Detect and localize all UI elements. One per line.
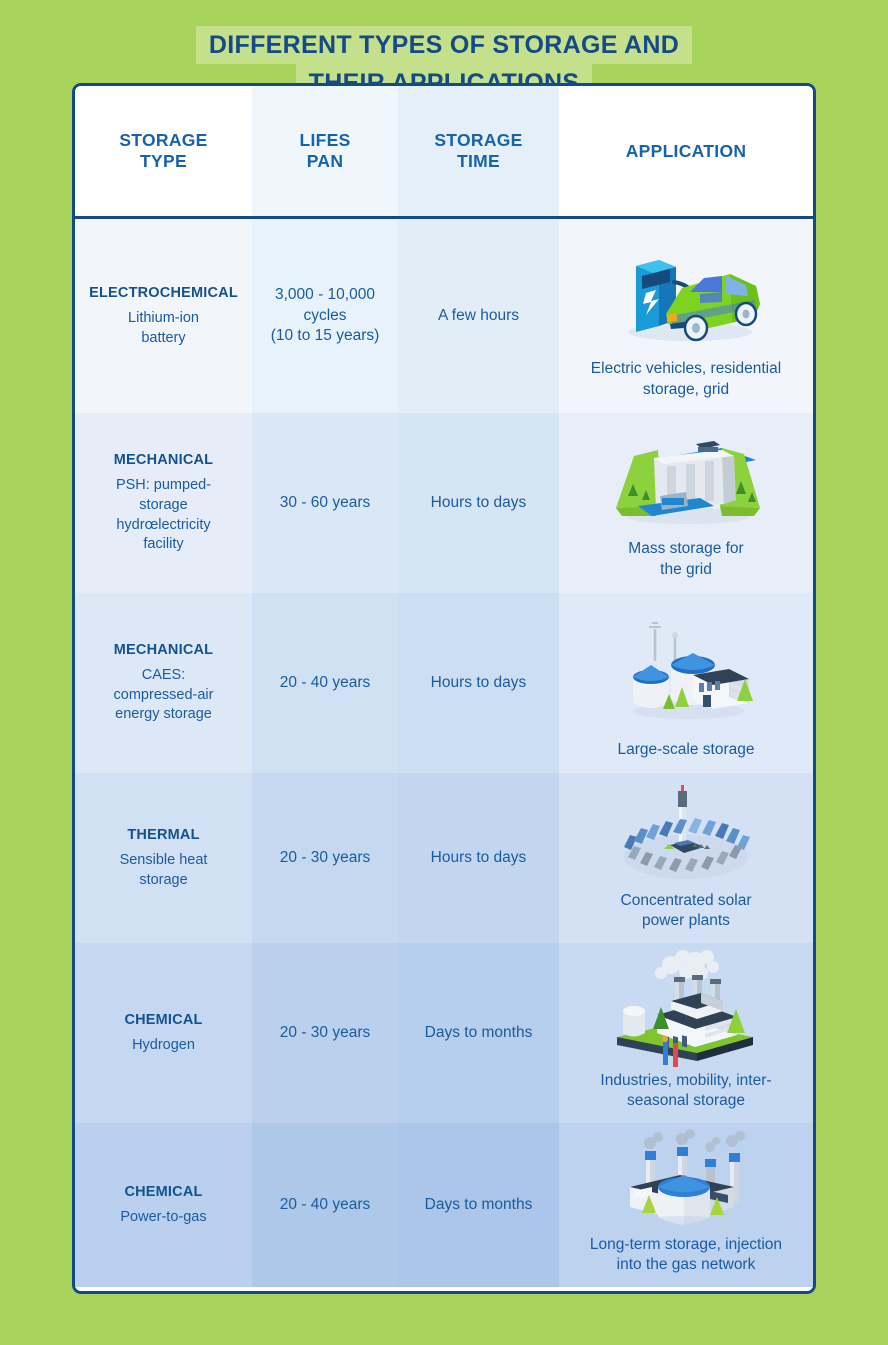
column-header-storage-time: STORAGE TIME xyxy=(398,86,559,216)
table-row: THERMAL Sensible heatstorage 20 - 30 yea… xyxy=(75,773,813,943)
cell-storage-type: MECHANICAL PSH: pumped-storagehydrœlectr… xyxy=(75,413,252,593)
cell-application: Concentrated solarpower plants xyxy=(559,773,813,943)
column-header-line-1: LIFES xyxy=(299,130,350,151)
gas-plant-icon xyxy=(567,1129,805,1235)
table-row: CHEMICAL Hydrogen 20 - 30 years Days to … xyxy=(75,943,813,1123)
storage-tanks-icon xyxy=(567,599,805,740)
cell-storage-type: CHEMICAL Hydrogen xyxy=(75,943,252,1123)
cell-application: Mass storage forthe grid xyxy=(559,413,813,593)
ev-charging-icon xyxy=(567,225,805,359)
lifespan-value: 20 - 30 years xyxy=(280,848,370,869)
cell-lifespan: 20 - 40 years xyxy=(252,593,398,773)
storage-type-desc: Lithium-ionbattery xyxy=(128,309,199,348)
cell-storage-time: Hours to days xyxy=(398,593,559,773)
page-title-line-1: DIFFERENT TYPES OF STORAGE AND xyxy=(196,26,692,64)
storage-type-desc: Sensible heatstorage xyxy=(120,851,208,890)
cell-storage-type: CHEMICAL Power-to-gas xyxy=(75,1123,252,1287)
storage-type-name: MECHANICAL xyxy=(114,641,213,659)
table-row: ELECTROCHEMICAL Lithium-ionbattery 3,000… xyxy=(75,219,813,413)
table-row: MECHANICAL PSH: pumped-storagehydrœlectr… xyxy=(75,413,813,593)
storage-type-name: CHEMICAL xyxy=(124,1183,202,1201)
application-label: Concentrated solarpower plants xyxy=(621,891,752,941)
cell-storage-type: THERMAL Sensible heatstorage xyxy=(75,773,252,943)
storage-comparison-table: STORAGE TYPE LIFES PAN STORAGE TIME APPL… xyxy=(72,83,816,1294)
cell-lifespan: 20 - 30 years xyxy=(252,773,398,943)
storage-time-value: Days to months xyxy=(425,1195,533,1216)
solar-tower-icon xyxy=(567,779,805,891)
cell-storage-time: Days to months xyxy=(398,943,559,1123)
column-header-line-1: APPLICATION xyxy=(626,141,747,162)
cell-storage-time: Hours to days xyxy=(398,413,559,593)
storage-type-name: MECHANICAL xyxy=(114,451,213,469)
lifespan-value: 20 - 40 years xyxy=(280,1195,370,1216)
cell-storage-time: Hours to days xyxy=(398,773,559,943)
cell-application: Electric vehicles, residentialstorage, g… xyxy=(559,219,813,413)
cell-application: Long-term storage, injectioninto the gas… xyxy=(559,1123,813,1287)
lifespan-value: 30 - 60 years xyxy=(280,493,370,514)
column-header-line-2: TIME xyxy=(457,151,500,172)
storage-type-name: CHEMICAL xyxy=(124,1011,202,1029)
cell-storage-time: Days to months xyxy=(398,1123,559,1287)
cell-lifespan: 30 - 60 years xyxy=(252,413,398,593)
column-header-application: APPLICATION xyxy=(559,86,813,216)
cell-lifespan: 3,000 - 10,000cycles(10 to 15 years) xyxy=(252,219,398,413)
cell-storage-type: ELECTROCHEMICAL Lithium-ionbattery xyxy=(75,219,252,413)
storage-type-desc: Power-to-gas xyxy=(120,1208,206,1228)
cell-application: Industries, mobility, inter-seasonal sto… xyxy=(559,943,813,1123)
application-label: Mass storage forthe grid xyxy=(628,539,743,589)
application-label: Large-scale storage xyxy=(618,740,755,769)
lifespan-value: 20 - 30 years xyxy=(280,1023,370,1044)
hydro-dam-icon xyxy=(567,419,805,539)
storage-type-desc: CAES:compressed-airenergy storage xyxy=(114,666,214,725)
column-header-line-1: STORAGE xyxy=(119,130,207,151)
storage-type-desc: PSH: pumped-storagehydrœlectricityfacili… xyxy=(116,476,211,554)
storage-type-name: THERMAL xyxy=(127,826,199,844)
table-row: CHEMICAL Power-to-gas 20 - 40 years Days… xyxy=(75,1123,813,1287)
cell-storage-time: A few hours xyxy=(398,219,559,413)
storage-type-desc: Hydrogen xyxy=(132,1036,195,1056)
cell-application: Large-scale storage xyxy=(559,593,813,773)
cell-lifespan: 20 - 30 years xyxy=(252,943,398,1123)
application-label: Electric vehicles, residentialstorage, g… xyxy=(591,359,781,409)
storage-type-name: ELECTROCHEMICAL xyxy=(89,284,238,302)
cell-storage-type: MECHANICAL CAES:compressed-airenergy sto… xyxy=(75,593,252,773)
column-header-line-2: TYPE xyxy=(140,151,187,172)
storage-time-value: Hours to days xyxy=(431,493,527,514)
application-label: Industries, mobility, inter-seasonal sto… xyxy=(600,1071,771,1121)
factory-icon xyxy=(567,949,805,1071)
column-header-lifespan: LIFES PAN xyxy=(252,86,398,216)
table-header-row: STORAGE TYPE LIFES PAN STORAGE TIME APPL… xyxy=(75,86,813,219)
table-row: MECHANICAL CAES:compressed-airenergy sto… xyxy=(75,593,813,773)
storage-time-value: Hours to days xyxy=(431,848,527,869)
lifespan-value: 20 - 40 years xyxy=(280,673,370,694)
lifespan-value: 3,000 - 10,000cycles(10 to 15 years) xyxy=(271,285,380,348)
storage-time-value: Days to months xyxy=(425,1023,533,1044)
storage-time-value: A few hours xyxy=(438,306,519,327)
column-header-line-1: STORAGE xyxy=(434,130,522,151)
cell-lifespan: 20 - 40 years xyxy=(252,1123,398,1287)
application-label: Long-term storage, injectioninto the gas… xyxy=(590,1235,782,1285)
column-header-line-2: PAN xyxy=(307,151,344,172)
column-header-storage-type: STORAGE TYPE xyxy=(75,86,252,216)
storage-time-value: Hours to days xyxy=(431,673,527,694)
